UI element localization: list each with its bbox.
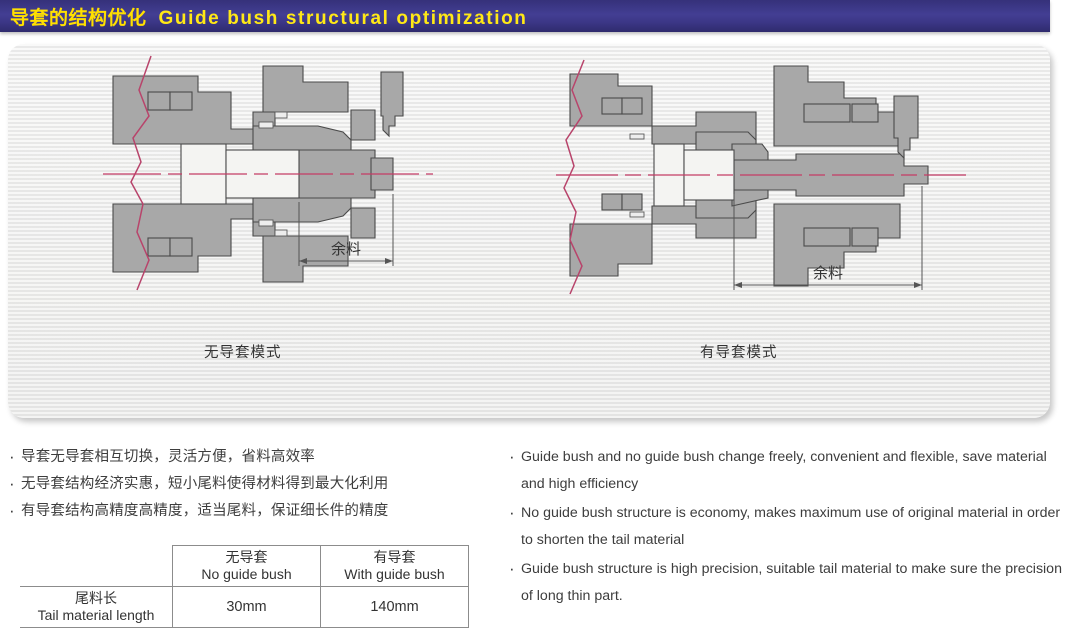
dimension-label-right: 余料 [813,264,843,282]
list-item: 无导套结构经济实惠，短小尾料使得材料得到最大化利用 [8,471,478,498]
header-label-en: With guide bush [327,566,462,583]
cell-with-guide-bush-value: 140mm [321,587,469,628]
row-label-cn: 尾料长 [26,590,166,607]
diagram-no-guide-bush: 余料 [103,54,433,294]
caption-no-guide-bush: 无导套模式 [204,341,282,362]
list-item: No guide bush structure is economy, make… [508,500,1068,554]
caption-with-guide-bush: 有导套模式 [700,341,778,362]
table-header-with-guide-bush: 有导套 With guide bush [321,546,469,587]
row-label-tail-material-length: 尾料长 Tail material length [20,587,173,628]
page-title-english: Guide bush structural optimization [159,8,528,30]
table-header-no-guide-bush: 无导套 No guide bush [173,546,321,587]
comparison-table: 无导套 No guide bush 有导套 With guide bush 尾料… [20,545,469,628]
cell-no-guide-bush-value: 30mm [173,587,321,628]
table-corner-cell [20,546,173,587]
list-item: Guide bush structure is high precision, … [508,556,1068,610]
diagram-panel: 余料 [8,44,1050,418]
table-header-row: 无导套 No guide bush 有导套 With guide bush [20,546,469,587]
diagram-with-guide-bush: 余料 [556,54,966,299]
dimension-label-left: 余料 [331,240,361,258]
page-header-bar: 导套的结构优化 Guide bush structural optimizati… [0,0,1050,32]
table-row: 尾料长 Tail material length 30mm 140mm [20,587,469,628]
header-label-cn: 无导套 [179,549,314,566]
list-item: Guide bush and no guide bush change free… [508,444,1068,498]
header-title-group: 导套的结构优化 Guide bush structural optimizati… [0,3,527,30]
feature-list-english: Guide bush and no guide bush change free… [508,444,1068,612]
header-label-en: No guide bush [179,566,314,583]
list-item: 导套无导套相互切换，灵活方便，省料高效率 [8,444,478,471]
feature-list-chinese: 导套无导套相互切换，灵活方便，省料高效率 无导套结构经济实惠，短小尾料使得材料得… [8,444,478,525]
page-title-chinese: 导套的结构优化 [10,3,147,30]
list-item: 有导套结构高精度高精度，适当尾料，保证细长件的精度 [8,498,478,525]
header-label-cn: 有导套 [327,549,462,566]
row-label-en: Tail material length [26,607,166,624]
